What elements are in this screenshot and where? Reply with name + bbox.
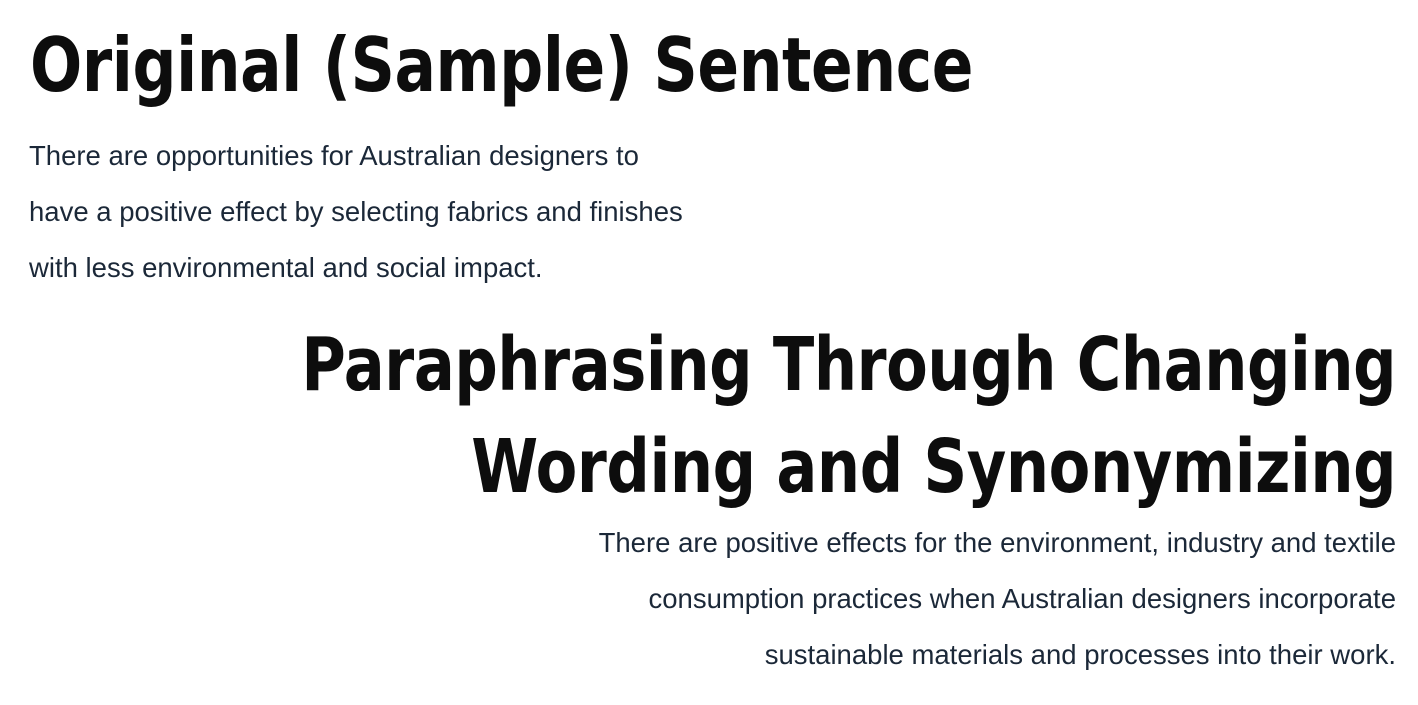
paragraph-paraphrase-line-1: There are positive effects for the envir… — [599, 515, 1396, 571]
heading-paraphrasing-through-changing-wording-and-synonymizing: Paraphrasing Through Changing Wording an… — [61, 314, 1396, 518]
heading-paraphrase-line-2: Wording and Synonymizing — [301, 416, 1396, 518]
paragraph-paraphrase-line-3: sustainable materials and processes into… — [599, 627, 1396, 683]
document-canvas: Original (Sample) Sentence There are opp… — [0, 0, 1418, 705]
paragraph-original-line-3: with less environmental and social impac… — [29, 240, 683, 296]
paragraph-paraphrased-sentence: There are positive effects for the envir… — [599, 515, 1396, 683]
heading-paraphrase-line-1: Paraphrasing Through Changing — [301, 314, 1396, 416]
paragraph-original-line-2: have a positive effect by selecting fabr… — [29, 184, 683, 240]
heading-original-sample-sentence: Original (Sample) Sentence — [30, 14, 1180, 118]
heading-original-line-1: Original (Sample) Sentence — [30, 14, 973, 118]
paragraph-paraphrase-line-2: consumption practices when Australian de… — [599, 571, 1396, 627]
paragraph-original-line-1: There are opportunities for Australian d… — [29, 128, 683, 184]
paragraph-original-sentence: There are opportunities for Australian d… — [29, 128, 683, 296]
